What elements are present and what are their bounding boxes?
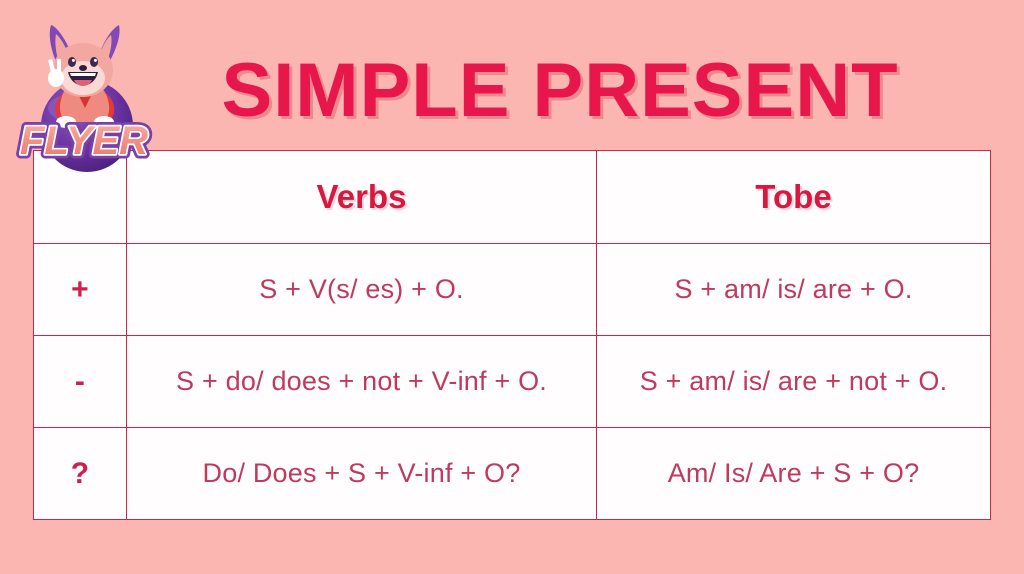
cell-verbs-negative: S + do/ does + not + V-inf + O. bbox=[127, 336, 597, 428]
cell-tobe-affirmative: S + am/ is/ are + O. bbox=[597, 244, 991, 336]
column-header-tobe: Tobe bbox=[597, 151, 991, 244]
row-sign-interrogative: ? bbox=[34, 428, 127, 520]
flyer-wordmark: FLYER FLYER FLYER bbox=[20, 119, 148, 163]
flyer-logo: FLYER FLYER FLYER bbox=[14, 8, 156, 176]
rabbit-mascot-icon bbox=[48, 25, 120, 128]
table-row: ? Do/ Does + S + V-inf + O? Am/ Is/ Are … bbox=[34, 428, 991, 520]
table-body: + S + V(s/ es) + O. S + am/ is/ are + O.… bbox=[34, 244, 991, 520]
table-header-row: Verbs Tobe bbox=[34, 151, 991, 244]
row-sign-negative: - bbox=[34, 336, 127, 428]
svg-text:FLYER: FLYER bbox=[20, 119, 148, 163]
cell-tobe-negative: S + am/ is/ are + not + O. bbox=[597, 336, 991, 428]
row-sign-affirmative: + bbox=[34, 244, 127, 336]
cell-verbs-affirmative: S + V(s/ es) + O. bbox=[127, 244, 597, 336]
table-row: - S + do/ does + not + V-inf + O. S + am… bbox=[34, 336, 991, 428]
table-header: Verbs Tobe bbox=[34, 151, 991, 244]
cell-tobe-interrogative: Am/ Is/ Are + S + O? bbox=[597, 428, 991, 520]
cell-verbs-interrogative: Do/ Does + S + V-inf + O? bbox=[127, 428, 597, 520]
column-header-verbs: Verbs bbox=[127, 151, 597, 244]
simple-present-table: Verbs Tobe + S + V(s/ es) + O. S + am/ i… bbox=[33, 150, 991, 520]
table-row: + S + V(s/ es) + O. S + am/ is/ are + O. bbox=[34, 244, 991, 336]
page-title: SIMPLE PRESENT bbox=[160, 44, 960, 136]
